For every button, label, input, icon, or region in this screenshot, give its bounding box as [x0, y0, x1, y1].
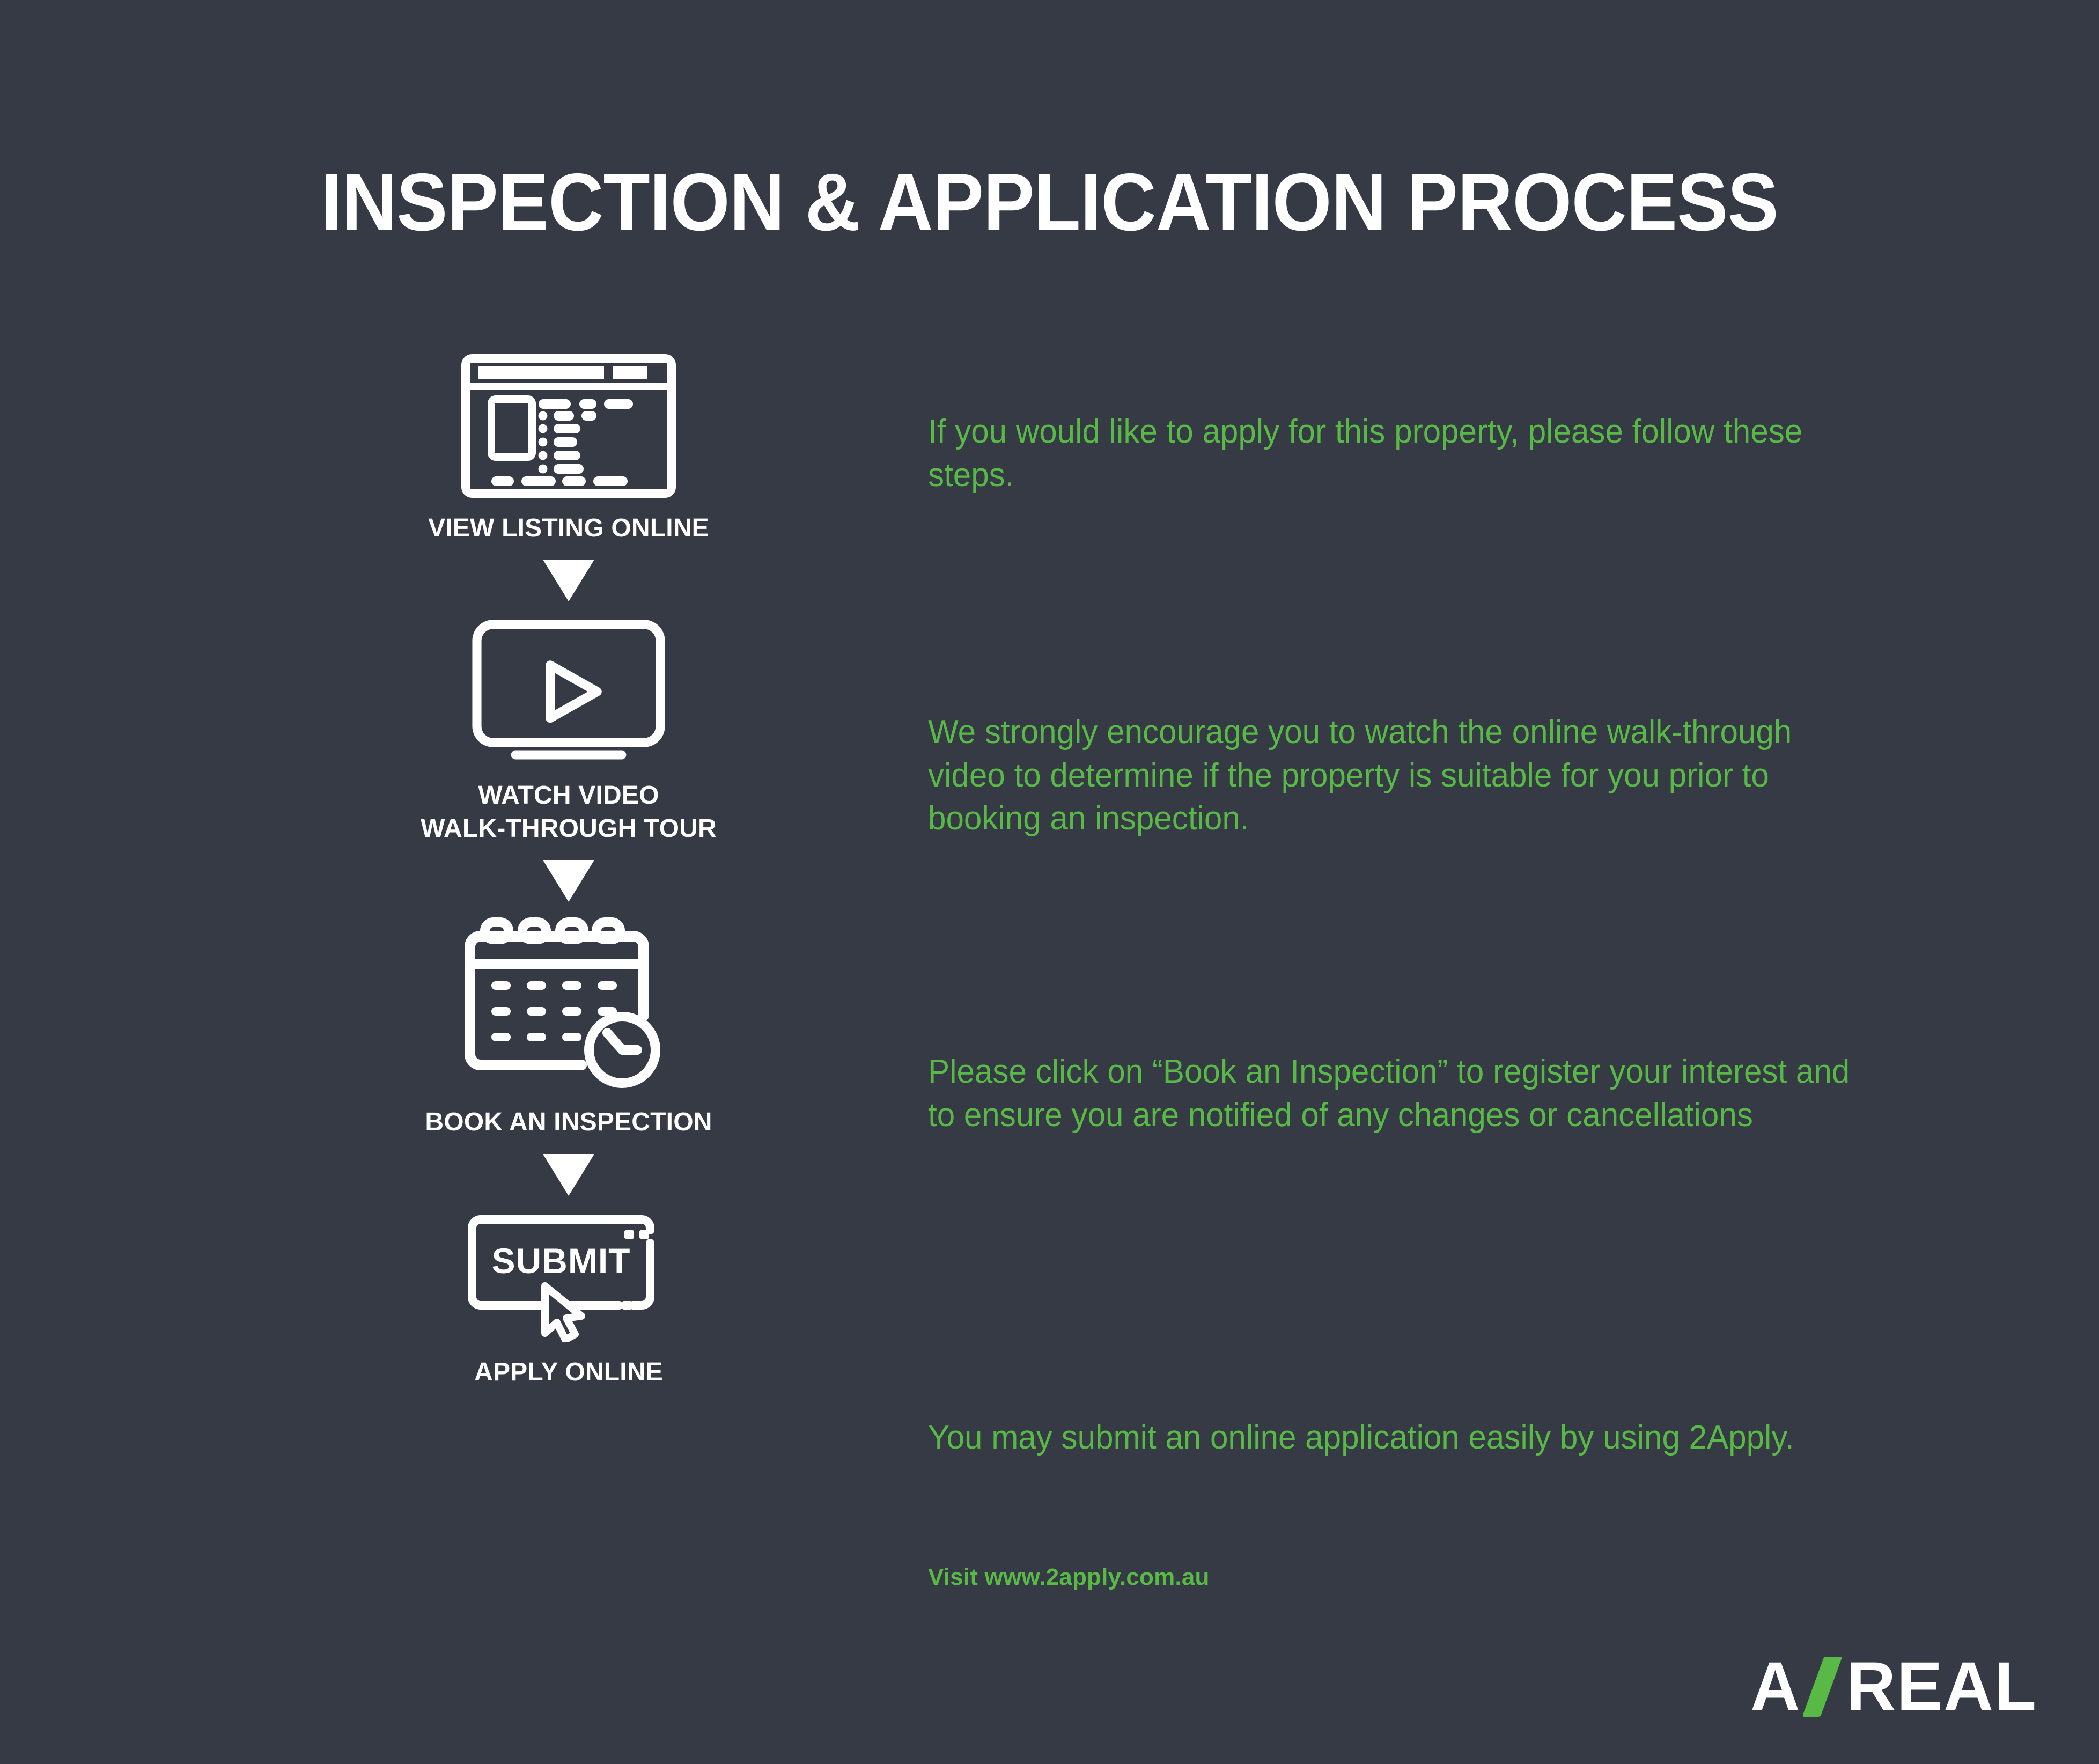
step-label: VIEW LISTING ONLINE	[428, 512, 709, 545]
step-book-inspection: BOOK AN INSPECTION	[370, 913, 767, 1138]
step-label: WATCH VIDEO WALK-THROUGH TOUR	[421, 779, 717, 845]
step-apply-online: SUBMIT APPLY ONLINE	[370, 1207, 767, 1388]
arrow-down-triangle-icon	[543, 560, 594, 601]
video-play-icon	[467, 612, 671, 765]
copy-block-book-inspection: Please click on “Book an Inspection” to …	[928, 1050, 1859, 1137]
svg-text:SUBMIT: SUBMIT	[492, 1241, 631, 1281]
step-label: APPLY ONLINE	[474, 1356, 663, 1388]
visit-url-text[interactable]: Visit www.2apply.com.au	[928, 1564, 1210, 1591]
infographic-poster: INSPECTION & APPLICATION PROCESS	[0, 0, 2099, 1764]
browser-listing-icon	[461, 354, 676, 498]
page-title: INSPECTION & APPLICATION PROCESS	[63, 156, 2036, 249]
brand-logo: A REAL	[1750, 1652, 2037, 1721]
copy-block-watch-video: We strongly encourage you to watch the o…	[928, 711, 1859, 841]
process-steps-column: VIEW LISTING ONLINE WATCH VIDEO WALK-THR…	[370, 354, 767, 1388]
step-watch-video: WATCH VIDEO WALK-THROUGH TOUR	[370, 612, 767, 845]
arrow-down-triangle-icon	[543, 860, 594, 902]
copy-block-apply-online: You may submit an online application eas…	[928, 1416, 1859, 1460]
submit-button-cursor-icon: SUBMIT	[461, 1207, 676, 1342]
logo-word-real: REAL	[1846, 1652, 2037, 1721]
calendar-clock-icon	[461, 913, 676, 1092]
step-view-listing-online: VIEW LISTING ONLINE	[370, 354, 767, 545]
logo-slash-icon	[1802, 1657, 1842, 1717]
step-label: BOOK AN INSPECTION	[425, 1106, 712, 1138]
arrow-down-triangle-icon	[543, 1154, 594, 1196]
copy-block-view-listing: If you would like to apply for this prop…	[928, 410, 1859, 497]
logo-letter-a: A	[1750, 1652, 1801, 1721]
